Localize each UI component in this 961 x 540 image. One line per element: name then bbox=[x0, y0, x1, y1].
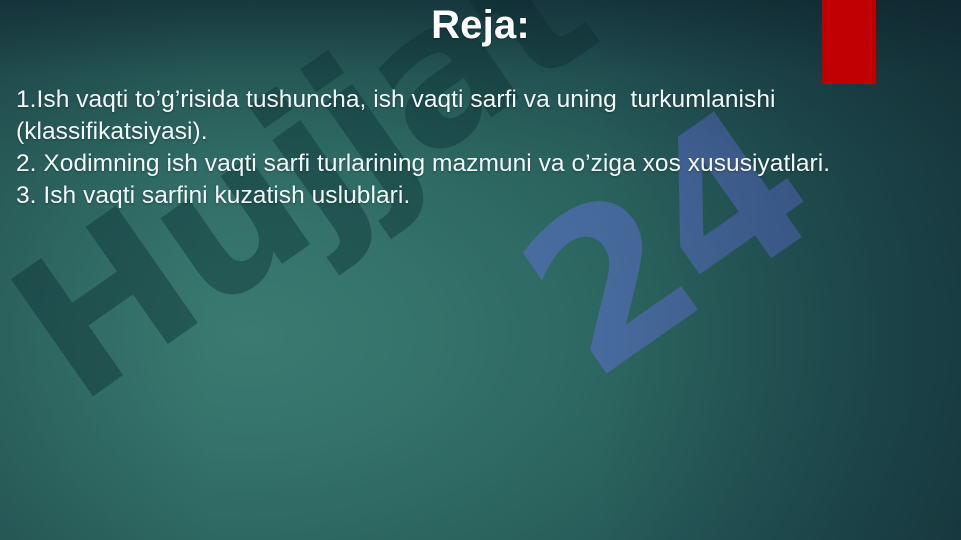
watermark-layer: Hujjat 24 bbox=[0, 0, 961, 540]
watermark-hujjat-text: Hujjat bbox=[0, 0, 620, 432]
body-line-1: 1.Ish vaqti to’g’risida tushuncha, ish v… bbox=[16, 84, 947, 148]
slide-title: Reja: bbox=[0, 2, 961, 49]
background-vignette bbox=[0, 0, 961, 540]
body-line-3: 3. Ish vaqti sarfini kuzatish uslublari. bbox=[16, 180, 947, 212]
body-line-2: 2. Xodimning ish vaqti sarfi turlarining… bbox=[16, 148, 947, 180]
presentation-slide: Hujjat 24 Reja: 1.Ish vaqti to’g’risida … bbox=[0, 0, 961, 540]
slide-body: 1.Ish vaqti to’g’risida tushuncha, ish v… bbox=[16, 84, 947, 212]
